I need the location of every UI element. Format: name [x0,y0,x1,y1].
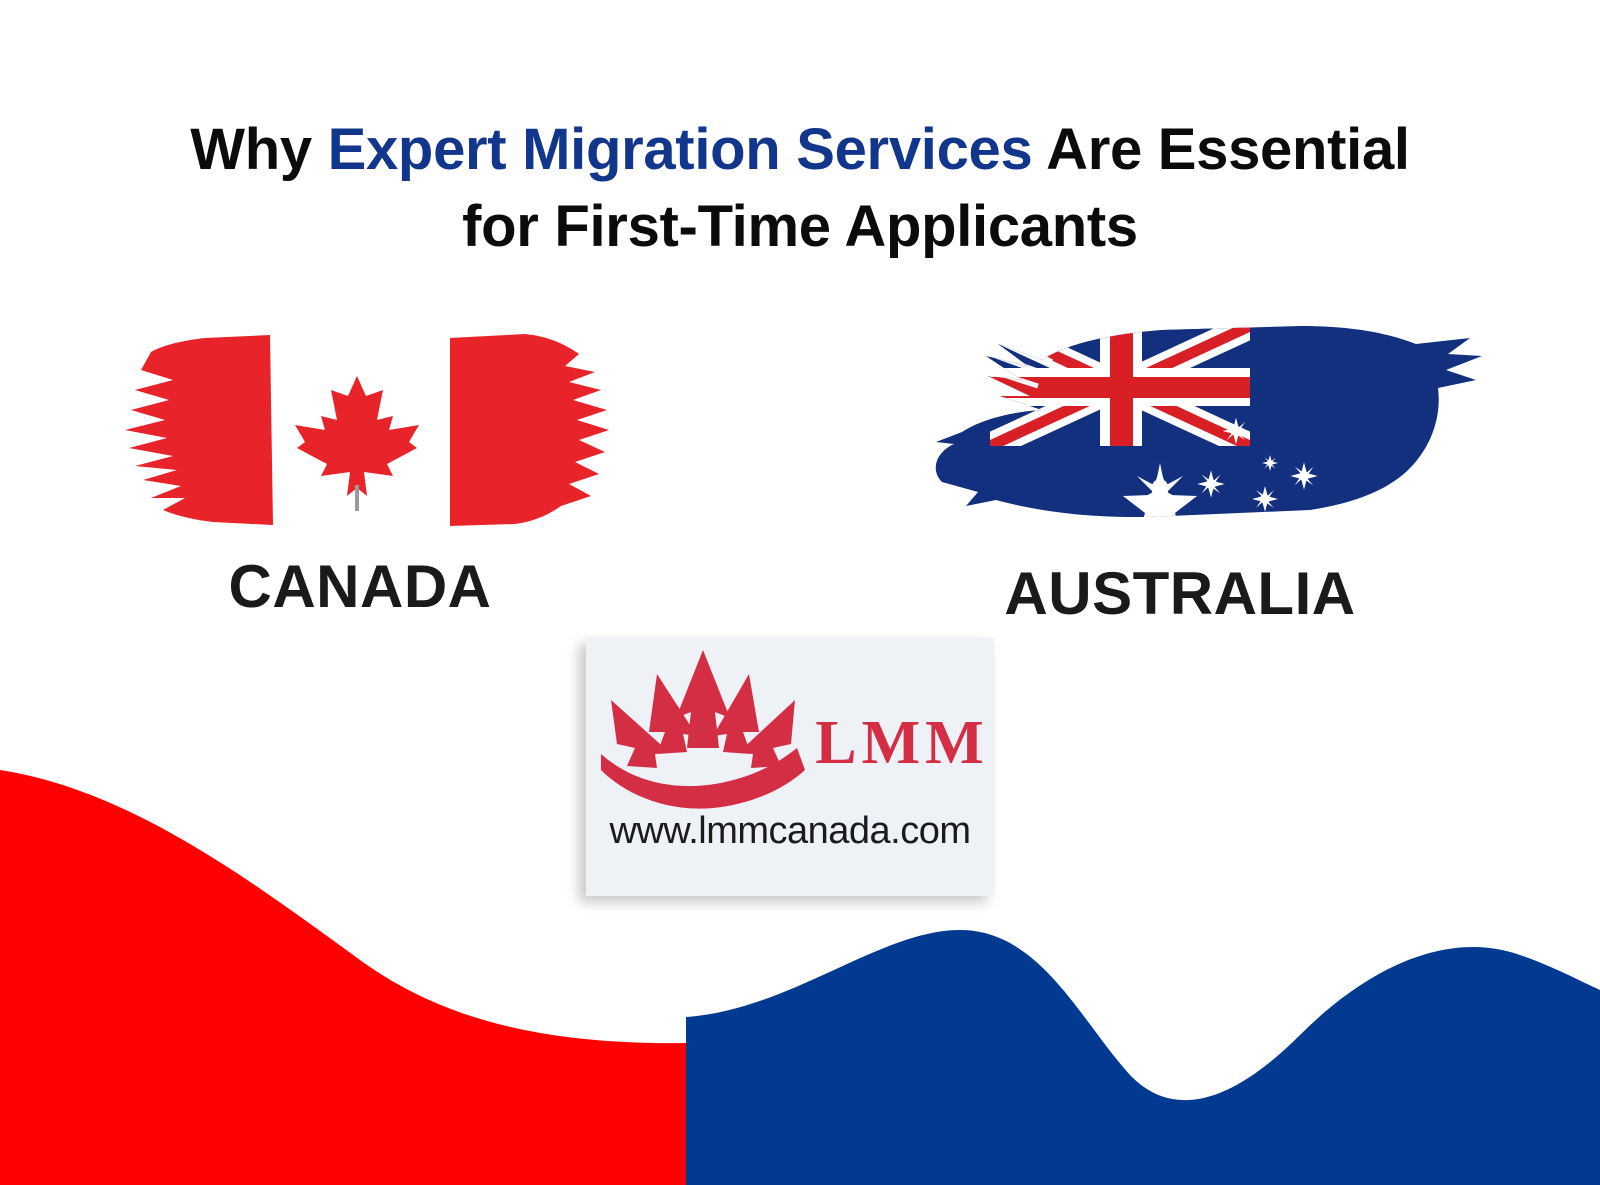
canada-flag-svg [95,320,625,535]
blue-wave-shape [686,930,1600,1185]
red-wave-shape [0,770,686,1185]
page-title-suffix: Are Essential [1032,117,1409,182]
logo-url-text: www.lmmcanada.com [609,812,970,850]
logo-wordmark: LMM [815,708,988,779]
page-title-prefix: Why [190,117,327,182]
country-block-canada: CANADA [95,320,625,617]
page-title-line-2: for First-Time Applicants [0,189,1600,266]
australia-flag-brush-icon [860,300,1500,550]
lmm-logo-card: LMM www.lmmcanada.com [586,638,994,896]
country-label-australia: AUSTRALIA [860,564,1500,624]
country-block-australia: AUSTRALIA [860,300,1500,624]
logo-mark-row: LMM [586,638,994,816]
country-label-canada: CANADA [95,557,625,617]
canada-flag-brush-icon [95,320,625,535]
page-title-line-1: Why Expert Migration Services Are Essent… [0,112,1600,189]
lmm-maple-leaf-icon [591,644,821,816]
poster-canvas: Why Expert Migration Services Are Essent… [0,0,1600,1185]
australia-flag-svg [870,300,1490,550]
page-title-highlight: Expert Migration Services [328,117,1033,182]
page-title: Why Expert Migration Services Are Essent… [0,112,1600,265]
